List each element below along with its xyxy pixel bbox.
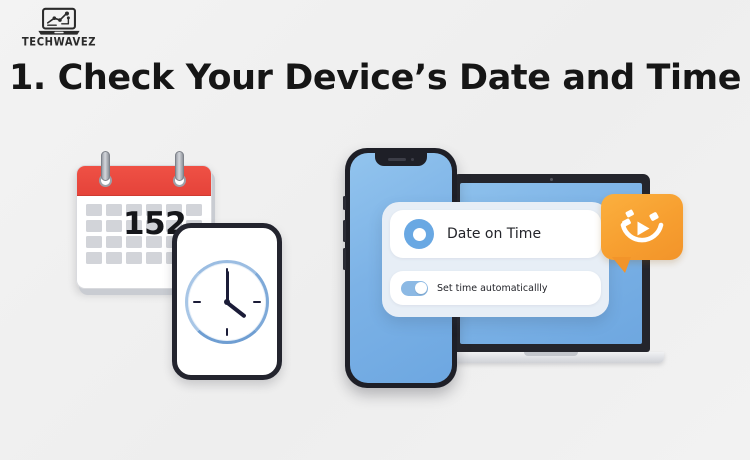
blue-ring-icon [404, 219, 434, 249]
calendar-cell [146, 252, 162, 264]
laptop-base [438, 352, 664, 363]
calendar-cell [86, 220, 102, 232]
illustration-stage: 152 [0, 0, 750, 460]
phone-volume-up-button [343, 220, 346, 242]
calendar-cell [106, 220, 122, 232]
phone-notch [375, 153, 427, 166]
analog-clock-icon [185, 260, 269, 344]
clock-card [172, 223, 282, 380]
clock-tick [226, 328, 228, 336]
laptop-trackpad-notch [524, 352, 578, 356]
calendar-cell [186, 204, 202, 216]
phone-mute-switch [343, 196, 346, 210]
phone-front-camera-icon [411, 158, 415, 162]
set-time-automatically-toggle[interactable] [401, 281, 428, 296]
calendar-cell [86, 204, 102, 216]
calendar-cell [86, 236, 102, 248]
poster-canvas: TECHWAVEZ 1. Check Your Device’s Date an… [0, 0, 750, 460]
calendar-header [77, 166, 211, 196]
phone-volume-down-button [343, 248, 346, 270]
calendar-cell [106, 236, 122, 248]
setting-label-date-on-time: Date on Time [447, 226, 541, 242]
clock-center-pivot [224, 299, 230, 305]
smiley-speech-bubble-icon [601, 194, 683, 260]
phone-speaker-icon [388, 158, 406, 161]
calendar-binder-ring [101, 151, 110, 181]
laptop-webcam-icon [550, 178, 553, 181]
setting-label-set-time-automatically: Set time automaticallly [437, 283, 548, 294]
clock-tick [193, 301, 201, 303]
calendar-cell [106, 204, 122, 216]
settings-panel: Date on Time Set time automaticallly [382, 202, 609, 317]
clock-minute-hand [226, 271, 229, 302]
calendar-cell [106, 252, 122, 264]
winking-smiley-face-icon [601, 194, 683, 260]
clock-tick [253, 301, 261, 303]
setting-row-date-on-time[interactable]: Date on Time [390, 210, 601, 258]
calendar-cell [86, 252, 102, 264]
calendar-binder-ring [175, 151, 184, 181]
calendar-cell [126, 252, 142, 264]
setting-row-set-time-automatically[interactable]: Set time automaticallly [390, 271, 601, 305]
